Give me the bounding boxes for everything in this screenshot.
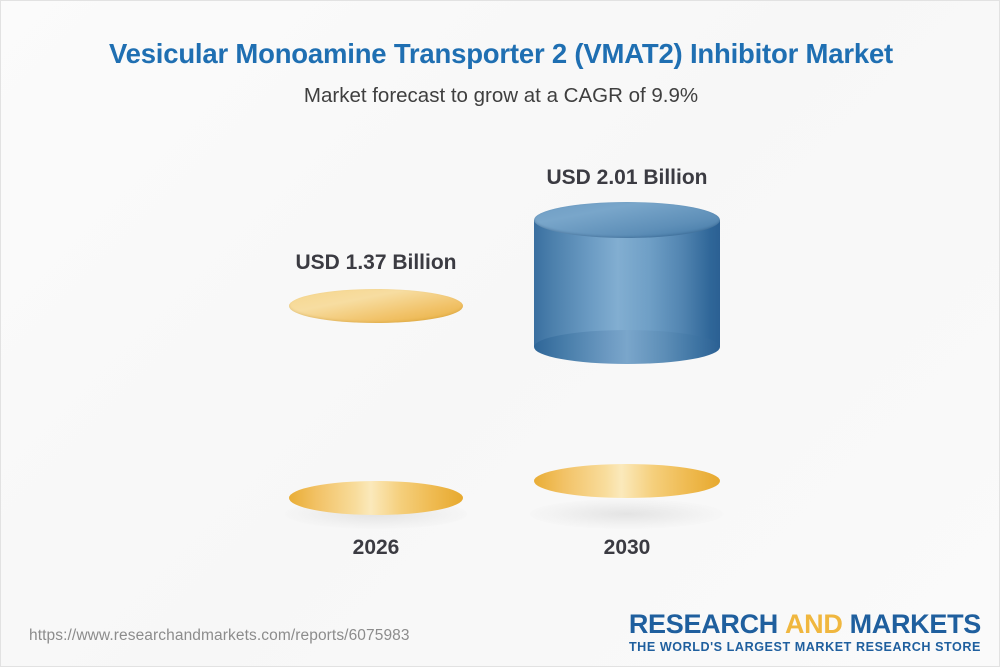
chart-plot-area: USD 1.37 Billion 2026 USD 2.01 Billion bbox=[1, 1, 1000, 601]
cylinder-bottom-cap-2030 bbox=[534, 464, 720, 498]
bar-group-2026: USD 1.37 Billion 2026 bbox=[289, 161, 463, 561]
chart-footer: https://www.researchandmarkets.com/repor… bbox=[1, 596, 1000, 666]
bar-group-2030: USD 2.01 Billion 2030 bbox=[534, 161, 720, 561]
infographic-canvas: Vesicular Monoamine Transporter 2 (VMAT2… bbox=[0, 0, 1000, 667]
logo-word-research: RESEARCH bbox=[629, 609, 778, 639]
cylinder-body-2026-base bbox=[289, 306, 463, 498]
cylinder-top-cap-2030 bbox=[534, 202, 720, 238]
cylinder-body-2030-growth bbox=[534, 220, 720, 347]
bar-value-label-2026: USD 1.37 Billion bbox=[289, 251, 463, 275]
cylinder-2026 bbox=[289, 289, 463, 515]
cylinder-bottom-cap-2026 bbox=[289, 481, 463, 515]
cylinder-2030 bbox=[534, 202, 720, 515]
category-label-2030: 2030 bbox=[534, 536, 720, 560]
category-label-2026: 2026 bbox=[289, 536, 463, 560]
cylinder-top-cap-2026 bbox=[289, 289, 463, 323]
cylinder-divider-cap-2030 bbox=[534, 330, 720, 364]
bar-value-label-2030: USD 2.01 Billion bbox=[534, 166, 720, 190]
source-url-link[interactable]: https://www.researchandmarkets.com/repor… bbox=[29, 627, 410, 645]
logo-word-and: AND bbox=[785, 609, 843, 639]
logo-word-markets: MARKETS bbox=[850, 609, 981, 639]
cylinder-shadow-2030 bbox=[530, 499, 724, 529]
research-and-markets-logo[interactable]: RESEARCHANDMARKETS THE WORLD'S LARGEST M… bbox=[629, 610, 981, 654]
logo-wordmark: RESEARCHANDMARKETS bbox=[629, 610, 981, 638]
logo-tagline: THE WORLD'S LARGEST MARKET RESEARCH STOR… bbox=[629, 640, 981, 654]
